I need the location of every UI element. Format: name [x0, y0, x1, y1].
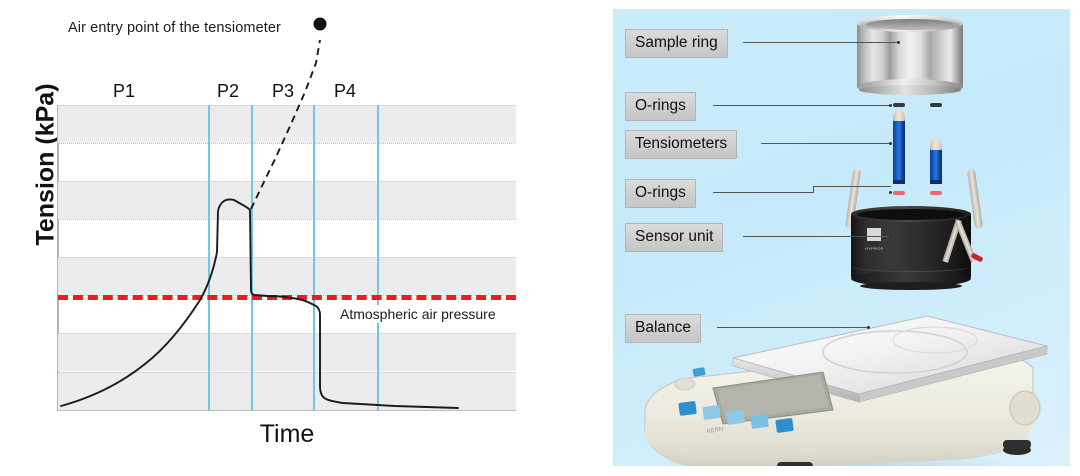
sensor-unit-seam [852, 262, 970, 272]
balance-key-5 [775, 418, 794, 433]
leader-dot-sample-ring [897, 41, 900, 44]
tensiometer-short [930, 139, 942, 183]
tensiometer-long-base [893, 180, 905, 184]
balance-key-3 [726, 410, 745, 425]
sensor-unit-clamp [947, 219, 985, 263]
leader-o-rings-bottom-seg1 [713, 192, 813, 193]
sensor-unit-base-plate [860, 282, 962, 290]
tension-curve [0, 0, 600, 476]
leader-balance [717, 327, 869, 328]
tensiometer-short-base [930, 180, 942, 184]
leader-dot-o-rings-top [889, 104, 892, 107]
balance-key-4 [750, 414, 769, 429]
o-ring-top-right [930, 103, 942, 107]
leader-dot-tensiometers [889, 142, 892, 145]
leader-sample-ring [743, 42, 899, 43]
leader-dot-sensor-unit [889, 235, 892, 238]
apparatus-diagram-panel: HYPROP [613, 9, 1070, 466]
tensiometer-short-shaft [930, 146, 942, 180]
screenshot-root: Air entry point of the tensiometer Tensi… [0, 0, 1080, 476]
tensiometer-long-ceramic-tip [893, 110, 905, 121]
leader-dot-o-rings-bottom [889, 191, 892, 194]
balance-side-knob [1010, 391, 1040, 425]
callout-balance[interactable]: Balance [625, 314, 701, 343]
tensiometer-long [893, 110, 905, 183]
sample-ring-inner-opening [866, 19, 954, 30]
callout-sensor-unit[interactable]: Sensor unit [625, 223, 723, 252]
balance-key-2 [702, 405, 721, 420]
sensor-unit-brand-text: HYPROP [865, 246, 884, 251]
air-entry-point-marker [314, 18, 327, 31]
balance-key-1 [678, 401, 697, 416]
o-ring-top-left [893, 103, 905, 107]
leader-tensiometers [761, 143, 891, 144]
leader-o-rings-bottom-step [813, 186, 814, 193]
leader-o-rings-bottom-seg2 [813, 186, 891, 187]
leader-dot-balance [867, 326, 870, 329]
sample-ring-illustration [857, 15, 963, 97]
balance-level-bubble [675, 378, 695, 390]
leader-o-rings-top [713, 105, 891, 106]
atmospheric-pressure-caption: Atmospheric air pressure [337, 305, 499, 323]
tensiometer-long-shaft [893, 117, 905, 180]
leader-sensor-unit [743, 236, 891, 237]
tensiometer-short-ceramic-tip [930, 139, 942, 150]
callout-tensiometers[interactable]: Tensiometers [625, 130, 737, 159]
sample-ring-lip [859, 85, 961, 95]
tension-time-chart-panel: Air entry point of the tensiometer Tensi… [0, 0, 600, 476]
callout-sample-ring[interactable]: Sample ring [625, 29, 728, 58]
sensor-unit-logo-icon [867, 228, 881, 241]
o-ring-bottom-right [930, 191, 942, 195]
balance-power-button [692, 367, 705, 377]
callout-o-rings-bottom[interactable]: O-rings [625, 179, 696, 208]
o-ring-bottom-left [893, 191, 905, 195]
callout-o-rings-top[interactable]: O-rings [625, 92, 696, 121]
